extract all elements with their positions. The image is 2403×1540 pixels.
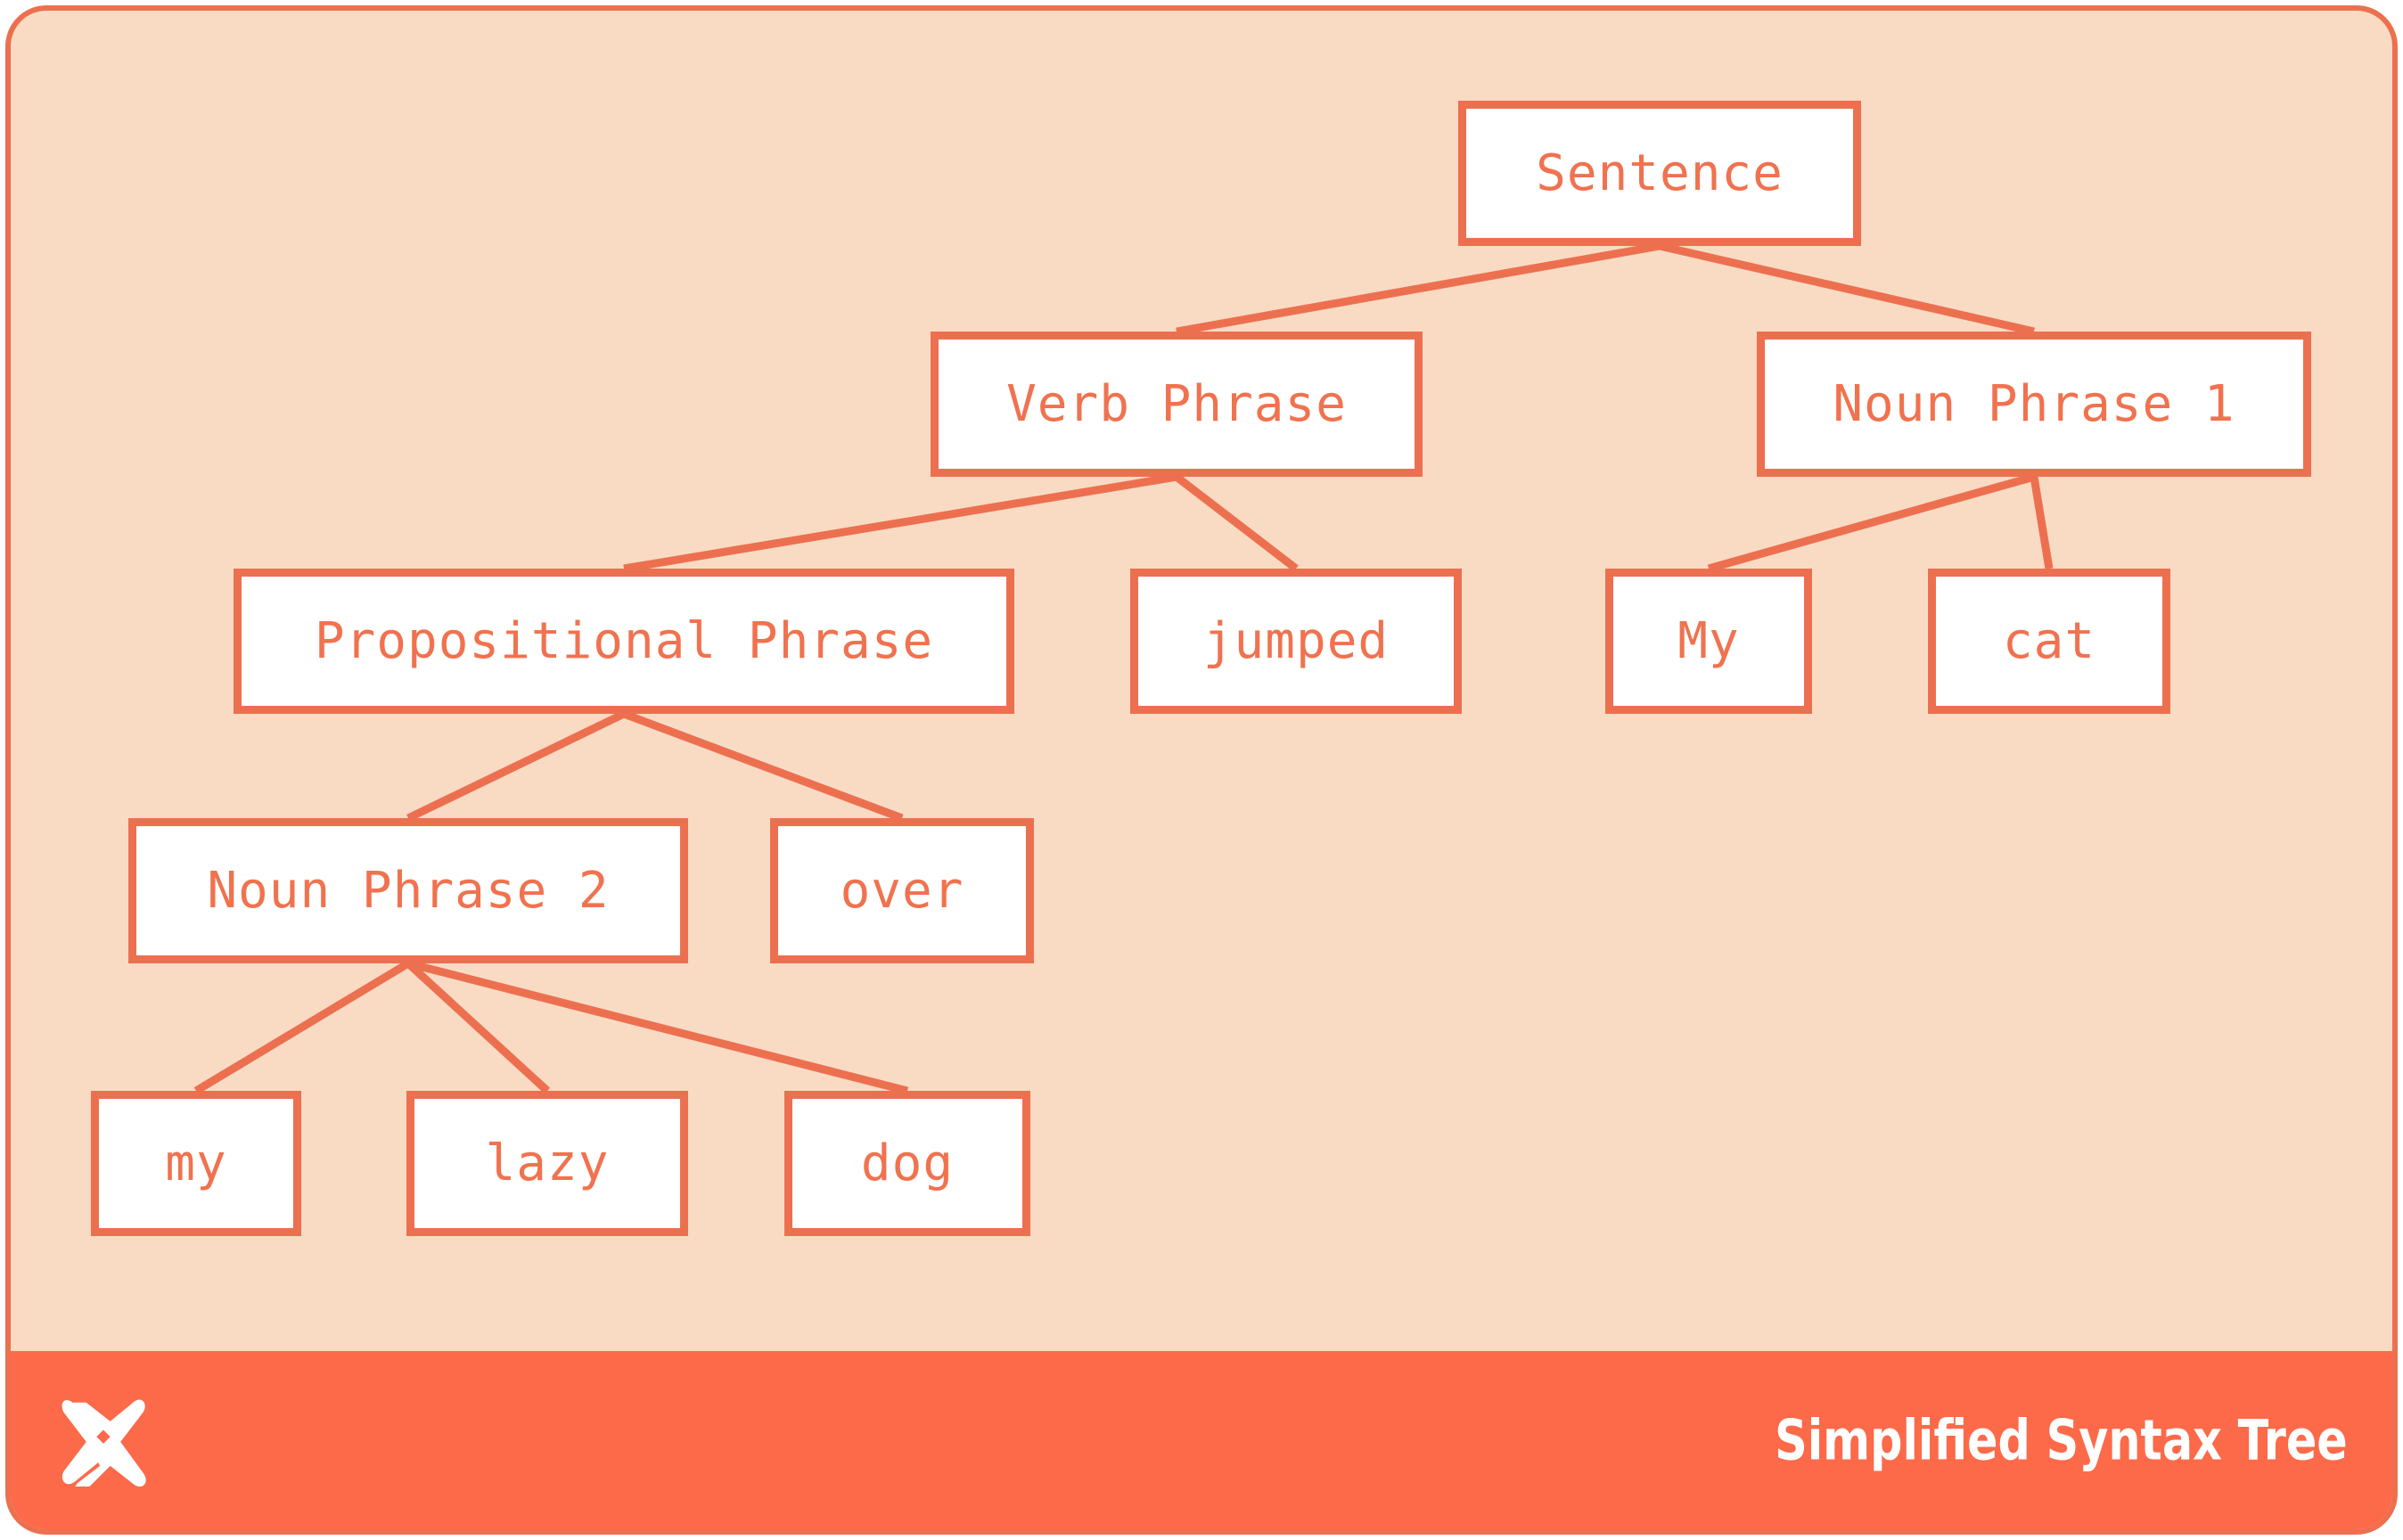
tree-edge-noun-phrase-2-to-my-poss	[196, 963, 408, 1091]
tree-node-label: Propositional Phrase	[315, 612, 933, 670]
footer-bar: Simplified Syntax Tree	[11, 1351, 2398, 1529]
tree-edge-verb-phrase-to-propositional-phrase	[624, 477, 1177, 569]
tree-edge-noun-phrase-1-to-my-det	[1709, 477, 2034, 569]
diagram-card: SentenceVerb PhraseNoun Phrase 1Proposit…	[5, 5, 2398, 1535]
tree-node-label: Sentence	[1536, 144, 1784, 202]
tree-node-label: dog	[861, 1135, 954, 1192]
tree-node-lazy[interactable]: lazy	[406, 1091, 688, 1236]
tree-node-label: over	[841, 862, 964, 920]
tree-node-label: Verb Phrase	[1006, 375, 1347, 433]
tree-node-over[interactable]: over	[770, 818, 1034, 963]
tree-node-sentence[interactable]: Sentence	[1458, 101, 1861, 246]
tree-node-verb-phrase[interactable]: Verb Phrase	[931, 332, 1423, 477]
tree-edge-propositional-phrase-to-noun-phrase-2	[408, 714, 624, 818]
tree-node-label: jumped	[1203, 612, 1389, 670]
tree-node-my-det[interactable]: My	[1605, 569, 1812, 714]
tree-node-dog[interactable]: dog	[784, 1091, 1030, 1236]
tree-edge-sentence-to-noun-phrase-1	[1660, 246, 2034, 332]
tree-node-my-poss[interactable]: my	[91, 1091, 301, 1236]
tree-node-noun-phrase-1[interactable]: Noun Phrase 1	[1757, 332, 2311, 477]
tree-node-label: My	[1677, 612, 1739, 670]
tree-connectors	[11, 11, 2398, 1535]
tree-node-label: Noun Phrase 2	[207, 862, 609, 920]
tree-edge-sentence-to-verb-phrase	[1177, 246, 1660, 332]
screenshot-canvas: SentenceVerb PhraseNoun Phrase 1Proposit…	[0, 0, 2403, 1540]
tree-node-noun-phrase-2[interactable]: Noun Phrase 2	[128, 818, 688, 963]
tree-edge-verb-phrase-to-jumped	[1177, 477, 1296, 569]
tree-node-label: lazy	[486, 1135, 610, 1192]
tree-node-label: cat	[2003, 612, 2095, 670]
tree-node-cat[interactable]: cat	[1928, 569, 2170, 714]
footer-title: Simplified Syntax Tree	[1775, 1408, 2348, 1473]
tree-edge-propositional-phrase-to-over	[624, 714, 902, 818]
tree-node-label: Noun Phrase 1	[1833, 375, 2235, 433]
tree-edge-noun-phrase-1-to-cat	[2034, 477, 2049, 569]
tree-node-jumped[interactable]: jumped	[1130, 569, 1462, 714]
tree-node-propositional-phrase[interactable]: Propositional Phrase	[234, 569, 1014, 714]
tree-node-label: my	[165, 1135, 226, 1192]
butterfly-x-logo-icon	[61, 1394, 146, 1487]
